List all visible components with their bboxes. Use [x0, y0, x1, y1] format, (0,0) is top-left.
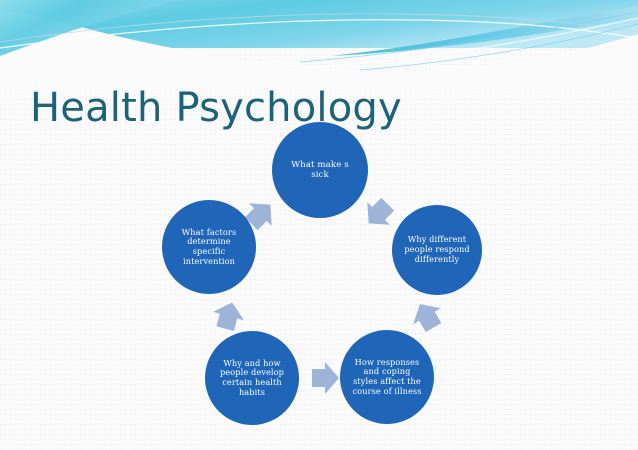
slide-canvas: Health Psychology What make ssick Why di…: [0, 0, 638, 450]
cycle-node-how-responses-coping[interactable]: How responsesand copingstyles affect the…: [340, 330, 434, 424]
cycle-node-label: Why and howpeople developcertain healthh…: [214, 359, 290, 398]
cycle-node-what-makes-sick[interactable]: What make ssick: [272, 122, 368, 218]
cycle-node-label: How responsesand copingstyles affect the…: [347, 358, 428, 397]
cycle-node-label: Why differentpeople responddifferently: [398, 235, 475, 264]
cycle-node-label: What make ssick: [285, 160, 354, 180]
cycle-node-what-factors-intervene[interactable]: What factorsdeterminespecificinterventio…: [162, 200, 256, 294]
cycle-node-why-different-respond[interactable]: Why differentpeople responddifferently: [392, 205, 482, 295]
page-title: Health Psychology: [30, 85, 402, 131]
cycle-diagram: What make ssick Why differentpeople resp…: [0, 0, 638, 450]
cycle-node-label: What factorsdeterminespecificinterventio…: [176, 228, 243, 267]
cycle-node-why-how-habits[interactable]: Why and howpeople developcertain healthh…: [205, 331, 299, 425]
